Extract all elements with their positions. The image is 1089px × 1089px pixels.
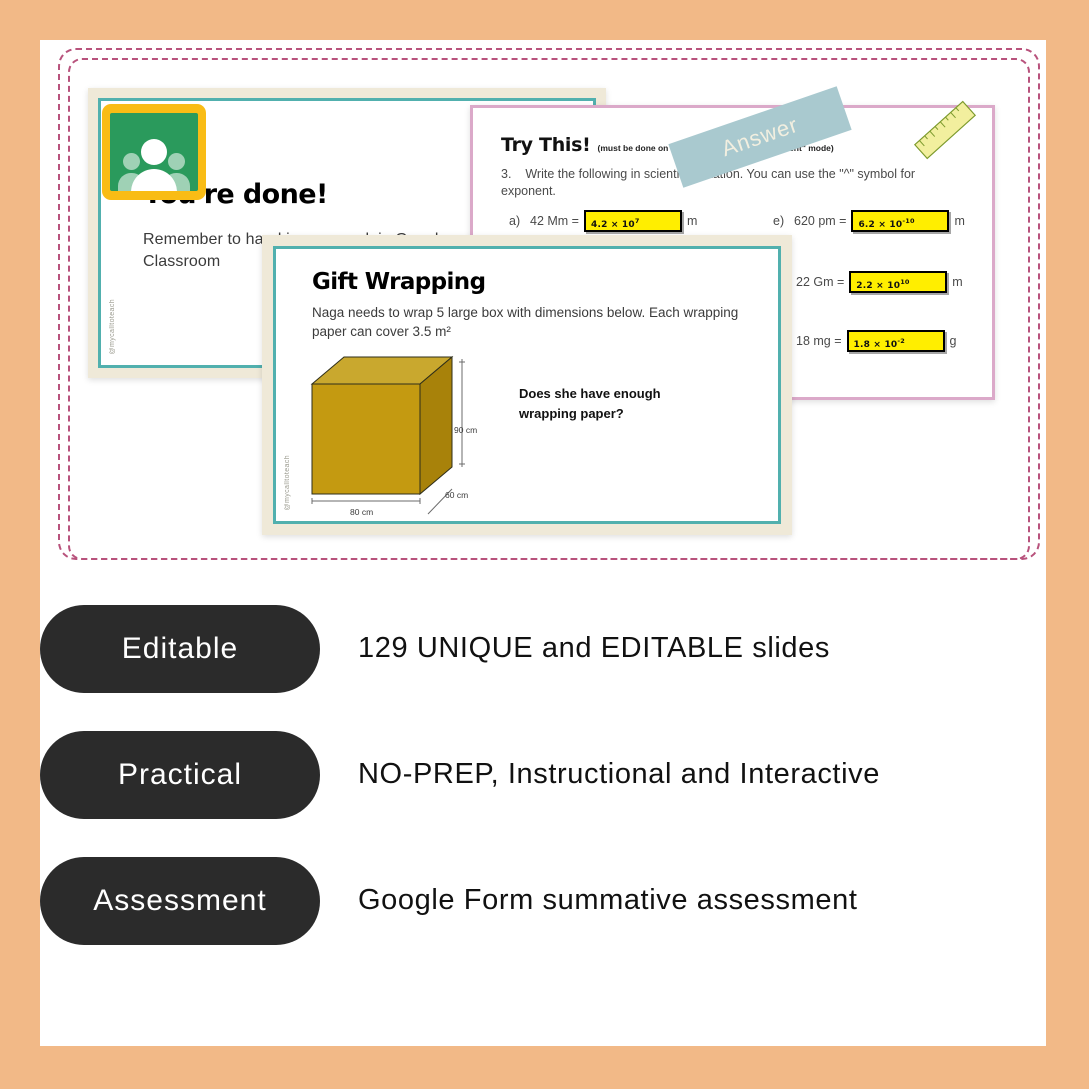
answer-input[interactable]: 6.2 × 10-10 (851, 210, 949, 232)
classroom-board (110, 113, 198, 191)
feature-pill-assessment[interactable]: Assessment (40, 857, 320, 945)
row-prompt: 620 pm = (794, 214, 846, 228)
product-preview-page: { "page": { "background_color": "#F2B987… (0, 0, 1089, 1089)
feature-pill-editable[interactable]: Editable (40, 605, 320, 693)
row-prompt: 42 Mm = (530, 214, 579, 228)
feature-description: Google Form summative assessment (358, 879, 857, 923)
person-center-body (131, 169, 177, 191)
row-unit: g (950, 334, 957, 348)
feature-description: NO-PREP, Instructional and Interactive (358, 753, 880, 797)
answer-row: 22 Gm = 2.2 × 1010 m (796, 271, 963, 293)
feature-description: 129 UNIQUE and EDITABLE slides (358, 627, 830, 671)
answer-row: e) 620 pm = 6.2 × 10-10 m (773, 210, 965, 232)
answer-input[interactable]: 1.8 × 10-2 (847, 330, 945, 352)
feature-row: Editable 129 UNIQUE and EDITABLE slides (40, 605, 1046, 693)
answer-input[interactable]: 2.2 × 1010 (849, 271, 947, 293)
slide-body-text: Naga needs to wrap 5 large box with dime… (312, 304, 772, 342)
row-unit: m (954, 214, 964, 228)
row-unit: m (687, 214, 697, 228)
slide-google-classroom[interactable] (40, 40, 290, 290)
slide-inner: Gift Wrapping Naga needs to wrap 5 large… (273, 246, 781, 524)
watermark: @mycalltoteach (284, 455, 291, 511)
answer-input[interactable]: 4.2 × 107 (584, 210, 682, 232)
row-prompt: 22 Gm = (796, 275, 844, 289)
feature-pill-practical[interactable]: Practical (40, 731, 320, 819)
row-unit: m (952, 275, 962, 289)
dimension-width-label: 80 cm (350, 507, 373, 517)
feature-list: Editable 129 UNIQUE and EDITABLE slides … (40, 605, 1046, 983)
rectangular-prism-figure: 90 cm 60 cm 80 cm (302, 349, 512, 524)
slide-title: Gift Wrapping (312, 269, 485, 295)
white-panel: You're done! Remember to hand in your wo… (40, 40, 1046, 1046)
answer-row: 18 mg = 1.8 × 10-2 g (796, 330, 956, 352)
row-letter: e) (773, 214, 789, 228)
row-prompt: 18 mg = (796, 334, 842, 348)
person-center-head (141, 139, 167, 165)
slide-title: Try This! (501, 134, 591, 156)
dimension-depth-label: 60 cm (445, 490, 468, 500)
person-left-head (123, 153, 140, 170)
dimension-height-label: 90 cm (454, 425, 477, 435)
slide-gift-wrapping[interactable]: Gift Wrapping Naga needs to wrap 5 large… (262, 235, 792, 535)
answer-row: a) 42 Mm = 4.2 × 107 m (509, 210, 697, 232)
feature-row: Practical NO-PREP, Instructional and Int… (40, 731, 1046, 819)
slide-question: Does she have enough wrapping paper? (519, 384, 699, 423)
row-letter: a) (509, 214, 525, 228)
google-classroom-icon (102, 104, 206, 200)
ruler-icon (914, 100, 976, 159)
question-number: 3. (501, 167, 511, 181)
slide-collage: You're done! Remember to hand in your wo… (40, 40, 1046, 560)
person-right-head (168, 153, 185, 170)
feature-row: Assessment Google Form summative assessm… (40, 857, 1046, 945)
